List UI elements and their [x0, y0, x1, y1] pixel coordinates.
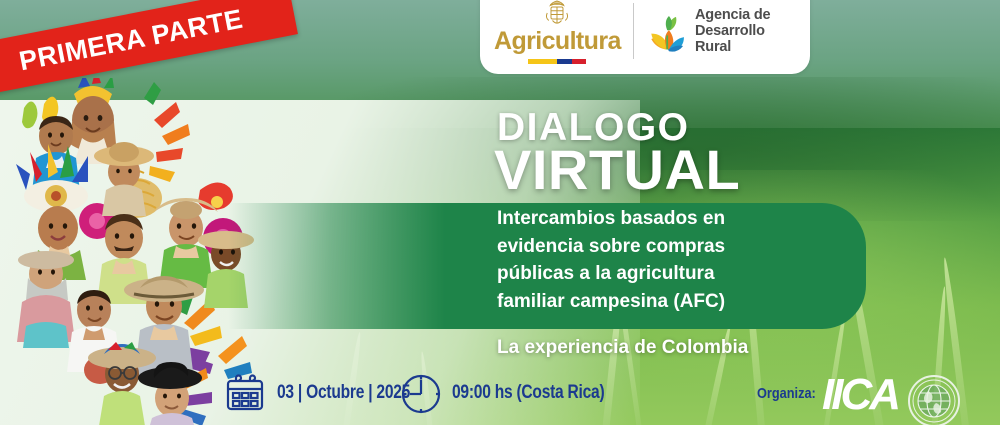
- people-collage: [4, 78, 254, 425]
- calendar-icon: [225, 374, 265, 412]
- event-time: 09:00 hs (Costa Rica): [452, 382, 604, 404]
- flag-blue: [557, 59, 572, 64]
- event-banner: PRIMERA PARTE Agricultura: [0, 0, 1000, 425]
- event-date: 03 | Octubre | 2025: [277, 382, 410, 404]
- colombia-coat-of-arms-icon: [542, 0, 572, 28]
- agency-logo: Agencia de Desarrollo Rural: [646, 7, 796, 56]
- subtitle-line: familiar campesina (AFC): [497, 288, 827, 316]
- ministry-wordmark: Agricultura: [494, 29, 621, 54]
- collage-illustration: [4, 78, 254, 425]
- iica-globe-seal-icon: [908, 375, 960, 425]
- agency-wordmark: Agencia de Desarrollo Rural: [695, 7, 796, 56]
- title-line-2: VIRTUAL: [494, 142, 740, 198]
- organizer-label: Organiza:: [757, 385, 816, 402]
- ministry-logo: Agricultura: [494, 0, 621, 64]
- subtitle-line: públicas a la agricultura: [497, 260, 827, 288]
- agency-line-2: Desarrollo Rural: [695, 23, 796, 55]
- flag-red: [572, 59, 587, 64]
- flag-yellow: [528, 59, 557, 64]
- agency-line-1: Agencia de: [695, 7, 796, 23]
- subtitle-text: Intercambios basados en evidencia sobre …: [497, 205, 827, 315]
- logo-panel: Agricultura Agencia de Desarrollo: [480, 0, 810, 74]
- logo-divider: [633, 3, 634, 59]
- subtitle-line: evidencia sobre compras: [497, 233, 827, 261]
- clock-icon: [400, 373, 442, 415]
- leaf-fan-sprout-icon: [646, 9, 688, 53]
- subtitle-line: Intercambios basados en: [497, 205, 827, 233]
- colombia-flag-bar: [528, 59, 586, 64]
- experience-subtitle: La experiencia de Colombia: [497, 337, 748, 359]
- iica-wordmark: IICA: [822, 373, 898, 417]
